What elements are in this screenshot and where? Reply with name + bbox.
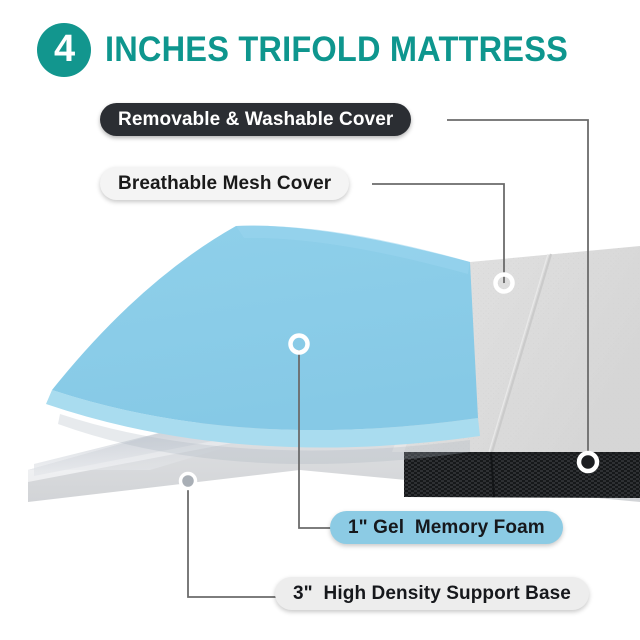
callout-high-density-support-base[interactable]: 3" High Density Support Base bbox=[275, 577, 589, 610]
mattress-illustration bbox=[0, 0, 640, 640]
callout-gel-memory-foam[interactable]: 1" Gel Memory Foam bbox=[330, 511, 563, 544]
gray-quilted-top-cover bbox=[392, 246, 640, 452]
connector-high-density-support-base bbox=[188, 481, 282, 597]
callout-connectors bbox=[0, 0, 640, 640]
marker-gel-memory-foam bbox=[291, 336, 308, 353]
connector-breathable-mesh-cover bbox=[372, 184, 504, 283]
connector-gel-memory-foam bbox=[299, 350, 337, 528]
mesh-side-band bbox=[404, 452, 640, 498]
header: 4 INCHES TRIFOLD MATTRESS bbox=[0, 14, 640, 86]
page-title: INCHES TRIFOLD MATTRESS bbox=[105, 30, 568, 70]
marker-breathable-mesh-cover bbox=[496, 275, 513, 292]
marker-removable-washable-cover bbox=[579, 453, 597, 471]
marker-high-density-support-base bbox=[181, 474, 196, 489]
callout-removable-washable-cover[interactable]: Removable & Washable Cover bbox=[100, 103, 411, 136]
white-support-base-layer bbox=[28, 394, 640, 502]
blue-gel-foam-layer bbox=[46, 226, 480, 464]
connector-removable-washable-cover bbox=[447, 120, 588, 462]
inches-badge: 4 bbox=[37, 23, 91, 77]
callout-breathable-mesh-cover[interactable]: Breathable Mesh Cover bbox=[100, 167, 349, 200]
infographic-canvas: 4 INCHES TRIFOLD MATTRESS bbox=[0, 0, 640, 640]
